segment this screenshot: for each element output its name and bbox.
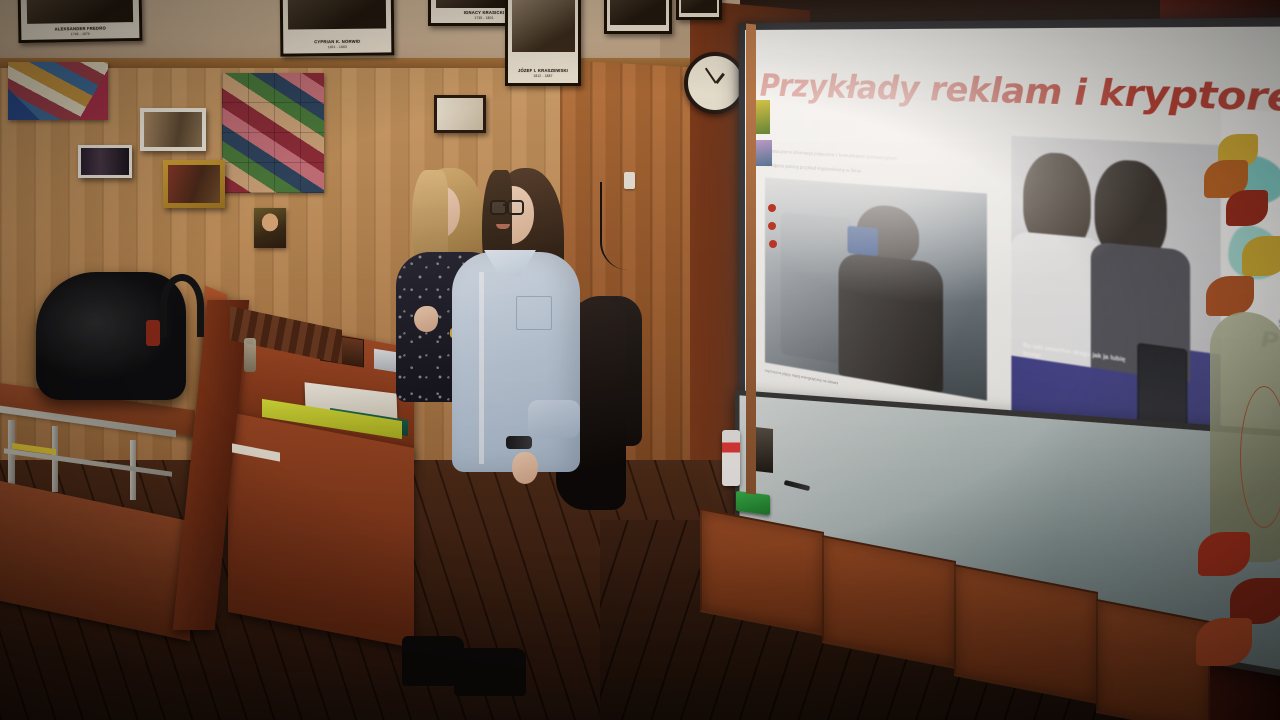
presenter-brunette-sleeve-cuff [528,400,580,438]
group-photo-image [81,148,129,175]
portrait-name: IGNACY KRASICKI [464,10,505,15]
board-eraser[interactable] [736,491,770,515]
portrait-frame-5 [604,0,672,34]
decoration-twig [1240,386,1280,528]
screen-edge-magnet-2 [768,222,776,230]
presenter-brunette-jeans [452,466,544,674]
portrait-image [681,0,717,13]
portrait-frame-1: ALEKSANDER FREDRO 1793 - 1876 [18,0,143,43]
presenter-brunette-watch [506,436,532,449]
power-cable [600,182,628,270]
group-photo-small [78,145,132,178]
framed-photo-image [144,112,202,147]
portrait-image [512,0,575,52]
screen-edge-magnet-1 [768,204,776,212]
portrait-frame-2: CYPRIAN K. NORWID 1821 - 1883 [280,0,395,57]
leaf-red-2 [1198,532,1250,576]
presenter-brunette-pocket [516,296,552,330]
glasses-icon [490,200,532,214]
presenter-blonde-hand [414,306,438,332]
photo-collage-left [8,62,108,120]
portrait-dates: 1793 - 1876 [21,31,139,38]
photo-collage-right [222,73,324,193]
board-photo-card [755,427,773,473]
presenter-brunette-boot-right [454,648,526,696]
water-bottle[interactable] [244,338,256,372]
portrait-dates: 1821 - 1883 [283,45,391,51]
framed-class-photo [140,108,206,151]
screen-edge-sticker-2 [756,140,772,166]
presenter-brunette-placket [479,272,484,464]
ad-gym-energy-drink [765,177,987,400]
whiteboard-spray-bottle[interactable] [722,430,740,486]
screen-edge-sticker [756,100,770,134]
screen-edge-magnet-3 [769,240,777,248]
portrait-frame-6 [676,0,722,20]
comic-image [437,98,483,130]
portrait-image [26,0,133,24]
leaf-orange-3 [1196,618,1252,666]
gold-frame-image [168,165,220,203]
leaf-red-1 [1226,190,1268,226]
glasses-bridge [503,204,509,206]
leaf-yellow-2 [1242,236,1280,276]
comic-frame [434,95,486,133]
leaf-orange-2 [1206,276,1254,316]
backpack-red-tag [146,320,160,346]
slide-title: Przykłady reklam i kryptoreklam [760,68,1280,124]
autumn-decoration [1196,126,1280,720]
cabinet-unit-4[interactable] [1096,599,1210,720]
portrait-label: JÓZEF I. KRASZEWSKI 1812 - 1887 [508,68,578,79]
clock-minute-hand [705,67,717,83]
portrait-image [610,0,666,25]
mona-lisa-print [254,208,286,248]
portrait-name: CYPRIAN K. NORWID [314,39,360,44]
glasses-left-lens [490,200,507,215]
energy-drink-can [847,226,878,256]
backpack-strap [160,274,204,337]
portrait-dates: 1812 - 1887 [508,74,578,79]
portrait-label: ALEKSANDER FREDRO 1793 - 1876 [21,25,139,38]
gold-framed-picture [163,160,225,208]
portrait-label: CYPRIAN K. NORWID 1821 - 1883 [283,38,391,50]
portrait-name: ALEKSANDER FREDRO [55,25,106,31]
gym-person-torso [839,252,943,393]
wall-clock [684,52,746,114]
classroom-photo-scene: ALEKSANDER FREDRO 1793 - 1876 CYPRIAN K.… [0,0,1280,720]
portrait-name: JÓZEF I. KRASZEWSKI [518,68,568,73]
portrait-frame-4: JÓZEF I. KRASZEWSKI 1812 - 1887 [505,0,581,86]
glasses-right-lens [507,200,524,215]
portrait-image [288,0,386,30]
screen-edge-trim [746,23,756,494]
